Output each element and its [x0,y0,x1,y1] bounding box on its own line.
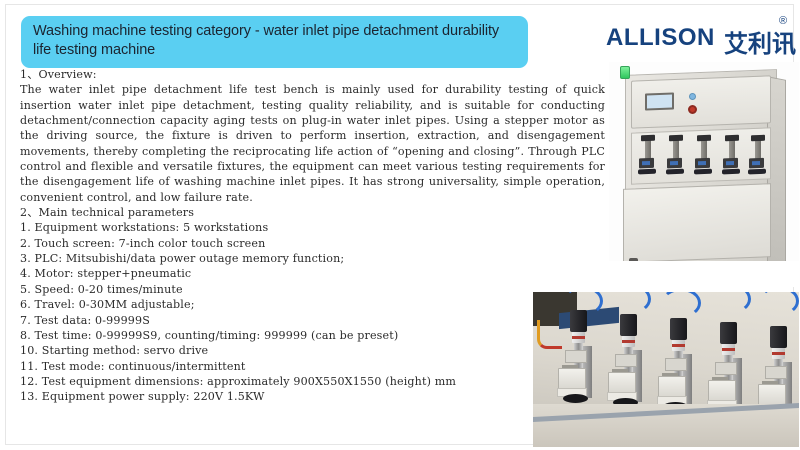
brand-logo: ALLISON 艾利讯 ® [606,22,796,56]
machine-lower-door [623,183,771,263]
registered-trademark-icon: ® [779,15,787,27]
list-item: 1. Equipment workstations: 5 workstation… [20,220,605,235]
list-item: 5. Speed: 0-20 times/minute [20,282,605,297]
rubber-pad [563,394,588,403]
stepper-motor [620,314,637,336]
test-fixture [708,380,736,402]
list-item: 3. PLC: Mitsubishi/data power outage mem… [20,251,605,266]
page-title: Washing machine testing category - water… [21,16,528,68]
list-item: 6. Travel: 0-30MM adjustable; [20,297,605,312]
machine-station [667,136,686,181]
list-item: 4. Motor: stepper+pneumatic [20,266,605,281]
stepper-motor [720,322,737,344]
touchscreen-hmi [645,92,674,110]
product-datasheet-page: Washing machine testing category - water… [5,4,794,445]
colored-wiring [537,320,562,349]
photo-floor-area [609,261,799,287]
brand-name-en: ALLISON [606,24,715,52]
machine-overview-photo [609,62,799,287]
section-1-heading: 1、Overview: [20,67,605,82]
stepper-motor [670,318,687,340]
test-fixture [758,384,786,406]
document-body: 1、Overview: The water inlet pipe detachm… [20,67,605,405]
list-item: 13. Equipment power supply: 220V 1.5KW [20,389,605,404]
list-item: 11. Test mode: continuous/intermittent [20,359,605,374]
test-fixture [658,376,686,398]
machine-station [723,136,742,181]
test-fixture [558,368,586,390]
overview-paragraph: The water inlet pipe detachment life tes… [20,82,605,205]
list-item: 12. Test equipment dimensions: approxima… [20,374,605,389]
stepper-motor [570,310,587,332]
test-fixture [608,372,636,394]
machine-station [695,136,714,181]
list-item: 10. Starting method: servo drive [20,343,605,358]
green-tower-light-icon [620,66,630,79]
stepper-motor [770,326,787,348]
machine-station [639,136,658,181]
list-item: 8. Test time: 0-99999S9, counting/timing… [20,328,605,343]
blue-indicator-button [689,93,696,100]
machine-station [749,136,768,181]
workstation-closeup-photo [533,292,799,447]
brand-name-cn: 艾利讯 [724,24,796,59]
technical-parameter-list: 1. Equipment workstations: 5 workstation… [20,220,605,404]
list-item: 7. Test data: 0-99999S [20,313,605,328]
section-2-heading: 2、Main technical parameters [20,205,605,220]
list-item: 2. Touch screen: 7-inch color touch scre… [20,236,605,251]
emergency-stop-button [688,105,697,114]
